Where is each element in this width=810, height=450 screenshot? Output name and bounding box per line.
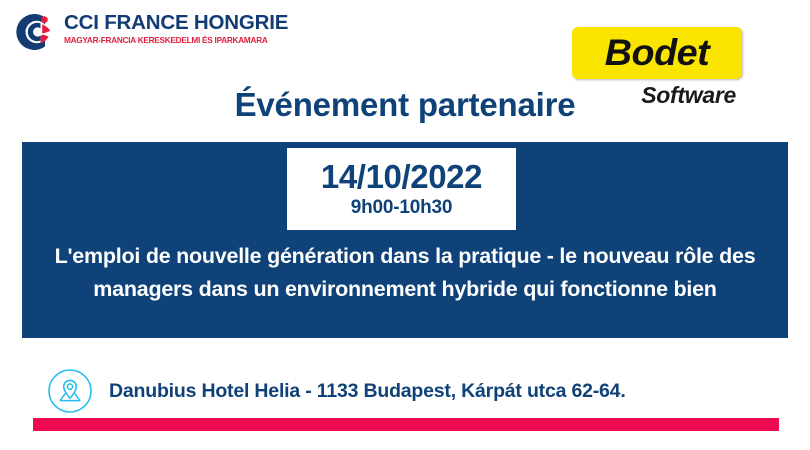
venue-row: Danubius Hotel Helia - 1133 Budapest, Ká… — [47, 368, 626, 414]
event-description: L'emploi de nouvelle génération dans la … — [24, 240, 786, 306]
header: CCI FRANCE HONGRIE MAGYAR-FRANCIA KERESK… — [0, 0, 810, 130]
venue-address: Danubius Hotel Helia - 1133 Budapest, Ká… — [109, 380, 626, 403]
event-time: 9h00-10h30 — [351, 196, 453, 220]
cci-wordmark: CCI FRANCE HONGRIE MAGYAR-FRANCIA KERESK… — [64, 12, 276, 46]
bottom-accent-bar — [33, 418, 779, 431]
location-pin-icon — [47, 368, 93, 414]
cci-roundel-icon — [12, 10, 56, 54]
page-title: Événement partenaire — [0, 86, 810, 124]
cci-logo-tagline: MAGYAR-FRANCIA KERESKEDELMI ÉS IPARKAMAR… — [64, 34, 274, 46]
cci-logo-name: CCI FRANCE HONGRIE — [64, 12, 276, 34]
bodet-yellow-badge: Bodet — [572, 27, 742, 79]
date-time-box: 14/10/2022 9h00-10h30 — [287, 148, 516, 230]
cci-france-hongrie-logo: CCI FRANCE HONGRIE MAGYAR-FRANCIA KERESK… — [12, 8, 277, 56]
bodet-brand-text: Bodet — [572, 27, 742, 79]
event-date: 14/10/2022 — [321, 159, 482, 195]
